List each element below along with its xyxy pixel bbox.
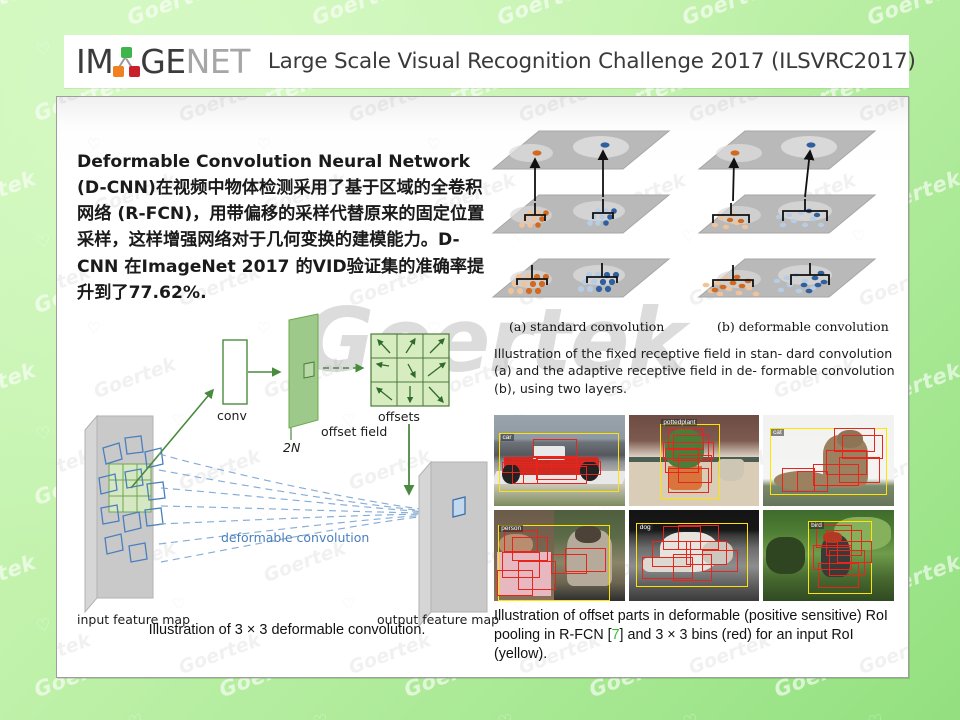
watermark-text: Goertek: [956, 454, 960, 510]
watermark-text: Goertek: [956, 70, 960, 126]
imagenet-logo: IM GE NET: [76, 45, 250, 78]
watermark-text: Goertek: [956, 262, 960, 318]
watermark-text: Goertek: [0, 358, 39, 414]
watermark-text: Goertek: [309, 0, 409, 30]
input-feature-map-slab: [85, 390, 213, 612]
label-deformable-convolution: deformable convolution: [221, 530, 369, 545]
watermark-text: Goertek: [0, 166, 39, 222]
watermark-heart-icon: ♡: [34, 615, 53, 638]
watermark-text: Goertek: [124, 0, 224, 30]
logo-node-red: [129, 66, 140, 77]
photo-car[interactable]: car: [494, 415, 625, 506]
photo-person[interactable]: person: [494, 510, 625, 601]
label-offset-field: offset field: [321, 424, 387, 439]
logo-text-net: NET: [186, 45, 250, 78]
receptive-field-diagram: [487, 115, 899, 330]
panel-watermark-text: Goertek: [176, 96, 264, 127]
logo-node-green: [121, 47, 132, 58]
photo-cat[interactable]: cat: [763, 415, 894, 506]
photo-tag: dog: [638, 524, 653, 531]
label-conv: conv: [217, 408, 247, 423]
standard-convolution-stack: [493, 131, 669, 297]
panel-watermark-text: Goertek: [346, 96, 434, 127]
photo-dog[interactable]: dog: [629, 510, 760, 601]
slide-canvas: Goertek♡Goertek♡Goertek♡Goertek♡Goertek♡…: [0, 0, 960, 720]
logo-text-ge: GE: [140, 45, 185, 78]
watermark-text: Goertek: [494, 0, 594, 30]
deformable-convolution-diagram: conv offset field 2N offsets deformable …: [75, 312, 495, 642]
watermark-text: Goertek: [0, 550, 39, 606]
roi-pooling-photo-grid: car pottedplant: [494, 415, 894, 601]
watermark-text: Goertek: [956, 646, 960, 702]
watermark-text: Goertek: [864, 0, 960, 30]
watermark-heart-icon: ♡: [34, 423, 53, 446]
photo-tag: pottedplant: [661, 419, 697, 426]
watermark-heart-icon: ♡: [311, 711, 330, 720]
watermark-heart-icon: ♡: [681, 711, 700, 720]
caption-standard-convolution: (a) standard convolution: [509, 319, 664, 334]
deformable-conv-svg: [75, 312, 495, 642]
caption-reference: 7: [612, 627, 620, 643]
conv-box: [223, 340, 280, 404]
offset-field-plane: [289, 314, 363, 440]
watermark-text: Goertek: [679, 0, 779, 30]
label-2n: 2N: [283, 440, 300, 455]
photo-tag: car: [501, 434, 514, 441]
right-figure-description: Illustration of the fixed receptive fiel…: [494, 345, 904, 397]
photo-pottedplant[interactable]: pottedplant: [629, 415, 760, 506]
photo-tag: cat: [771, 429, 784, 436]
photo-grid-caption: Illustration of offset parts in deformab…: [494, 607, 906, 664]
summary-paragraph: Deformable Convolution Neural Network (D…: [77, 149, 489, 306]
panel-watermark-text: Goertek: [56, 96, 94, 127]
watermark-heart-icon: ♡: [866, 711, 885, 720]
page-title: Large Scale Visual Recognition Challenge…: [268, 49, 916, 74]
logo-node-orange: [113, 66, 124, 77]
watermark-text: Goertek: [0, 0, 39, 30]
watermark-heart-icon: ♡: [34, 231, 53, 254]
deformable-convolution-stack: [699, 131, 875, 297]
logo-node-graph-icon: [113, 47, 140, 77]
content-panel: Goertek♡Goertek♡Goertek♡Goertek♡Goertek♡…: [56, 96, 909, 678]
watermark-heart-icon: ♡: [496, 711, 515, 720]
slide-header: IM GE NET Large Scale Visual Recognition…: [64, 35, 909, 88]
output-feature-map-slab: [419, 462, 487, 626]
logo-text-im: IM: [76, 45, 113, 78]
photo-tag: bird: [809, 522, 824, 529]
photo-bird[interactable]: bird: [763, 510, 894, 601]
caption-deformable-convolution: (b) deformable convolution: [717, 319, 889, 334]
watermark-heart-icon: ♡: [126, 711, 145, 720]
watermark-heart-icon: ♡: [34, 39, 53, 62]
label-offsets: offsets: [378, 409, 420, 424]
receptive-field-svg: [487, 115, 899, 330]
left-figure-caption: Illustration of 3 × 3 deformable convolu…: [87, 622, 487, 638]
photo-tag: person: [499, 525, 523, 532]
